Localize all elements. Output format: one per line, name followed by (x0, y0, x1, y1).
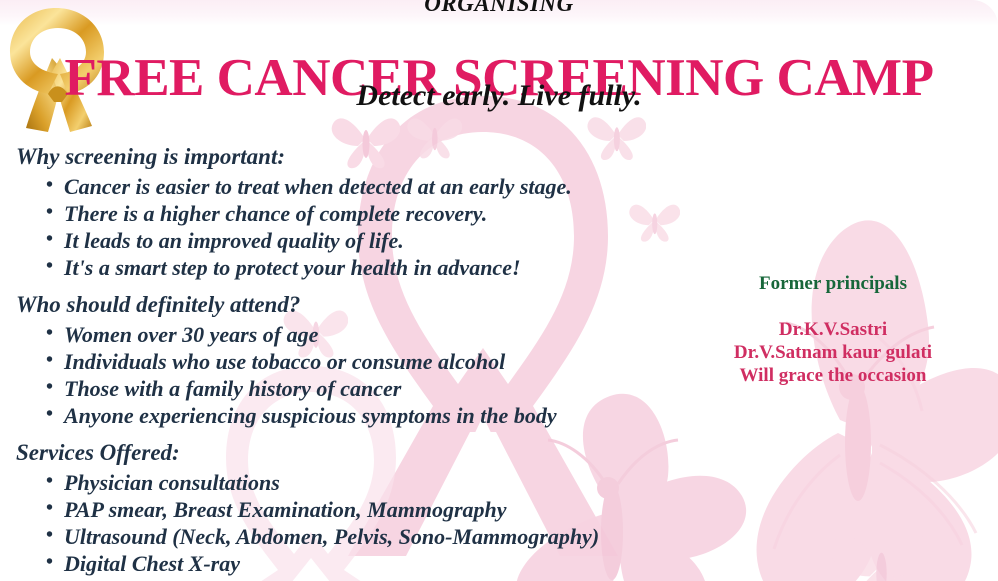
tagline: Detect early. Live fully. (0, 79, 998, 113)
section-why-screening: Why screening is important: Cancer is ea… (16, 142, 716, 281)
list-item: Those with a family history of cancer (46, 375, 716, 402)
section-who-should-attend: Who should definitely attend? Women over… (16, 290, 716, 429)
section-heading: Why screening is important: (16, 142, 716, 172)
principal-name: Dr.V.Satnam kaur gulati (668, 341, 998, 364)
bullet-list: Cancer is easier to treat when detected … (16, 173, 716, 281)
bullet-list: Women over 30 years of age Individuals w… (16, 321, 716, 429)
former-principals-block: Former principals Dr.K.V.Sastri Dr.V.Sat… (668, 272, 998, 387)
list-item: Physician consultations (46, 469, 716, 496)
former-principals-heading: Former principals (668, 272, 998, 296)
principal-note: Will grace the occasion (668, 364, 998, 387)
list-item: Individuals who use tobacco or consume a… (46, 348, 716, 375)
list-item: Ultrasound (Neck, Abdomen, Pelvis, Sono-… (46, 523, 716, 550)
poster-body: Why screening is important: Cancer is ea… (16, 142, 716, 581)
list-item: Anyone experiencing suspicious symptoms … (46, 402, 716, 429)
section-heading: Services Offered: (16, 438, 716, 468)
list-item: There is a higher chance of complete rec… (46, 200, 716, 227)
organising-label: ORGANISING (0, 0, 998, 17)
list-item: PAP smear, Breast Examination, Mammograp… (46, 496, 716, 523)
list-item: Cancer is easier to treat when detected … (46, 173, 716, 200)
list-item: It leads to an improved quality of life. (46, 227, 716, 254)
list-item: Oral Examination (46, 577, 716, 581)
butterfly-icon (820, 520, 940, 581)
section-services-offered: Services Offered: Physician consultation… (16, 438, 716, 581)
bullet-list: Physician consultations PAP smear, Breas… (16, 469, 716, 581)
list-item: It's a smart step to protect your health… (46, 254, 716, 281)
butterfly-icon (690, 215, 998, 581)
list-item: Women over 30 years of age (46, 321, 716, 348)
list-item: Digital Chest X-ray (46, 550, 716, 577)
poster-canvas: ORGANISING FREE CANCER SCREENING CAMP De… (0, 0, 998, 581)
section-heading: Who should definitely attend? (16, 290, 716, 320)
principal-name: Dr.K.V.Sastri (668, 318, 998, 341)
